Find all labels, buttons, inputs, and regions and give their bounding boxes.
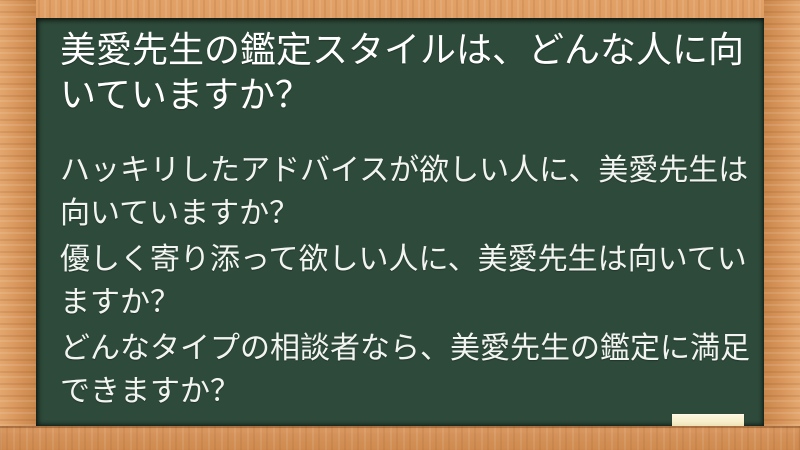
page-title: 美愛先生の鑑定スタイルは、どんな人に向いていますか？ [60, 27, 750, 117]
frame-rail-right [764, 0, 800, 450]
chalk-tray-lip [0, 426, 800, 428]
list-item: 優しく寄り添って欲しい人に、美愛先生は向いていますか？ [60, 238, 750, 324]
chalkboard-frame: 美愛先生の鑑定スタイルは、どんな人に向いていますか？ ハッキリしたアドバイスが欲… [0, 0, 800, 450]
frame-rail-left [0, 0, 36, 450]
chalkboard-content: 美愛先生の鑑定スタイルは、どんな人に向いていますか？ ハッキリしたアドバイスが欲… [36, 18, 764, 426]
list-item: ハッキリしたアドバイスが欲しい人に、美愛先生は向いていますか？ [60, 149, 750, 235]
chalk-tray [0, 426, 800, 450]
chalkboard-surface: 美愛先生の鑑定スタイルは、どんな人に向いていますか？ ハッキリしたアドバイスが欲… [36, 18, 764, 426]
list-item: どんなタイプの相談者なら、美愛先生の鑑定に満足できますか？ [60, 327, 750, 413]
question-list: ハッキリしたアドバイスが欲しい人に、美愛先生は向いていますか？ 優しく寄り添って… [60, 149, 750, 416]
